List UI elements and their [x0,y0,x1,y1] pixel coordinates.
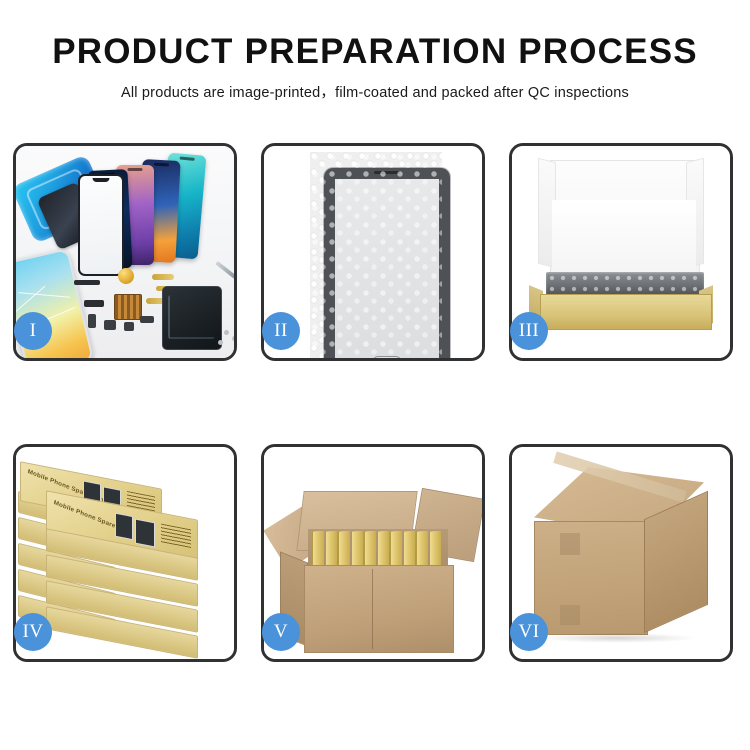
chip-icon [104,320,116,330]
glass-notch-icon [93,178,110,182]
sealed-carton-icon [534,521,648,635]
lid-spec-text [161,524,191,550]
page-title: PRODUCT PREPARATION PROCESS [0,34,750,71]
notch-icon [128,168,143,171]
step-badge-1: I [14,312,52,350]
kraft-inner-box-icon [540,294,712,330]
process-step-panel-6[interactable]: VI [509,444,733,662]
logic-board-icon [162,286,222,350]
flex-cable-icon [152,274,174,280]
chip-icon [140,316,154,323]
step-badge-6: VI [510,613,548,651]
notch-icon [154,163,169,167]
step-badge-3: III [510,312,548,350]
process-step-panel-1[interactable]: I [13,143,237,361]
process-step-panel-3[interactable]: III [509,143,733,361]
carton-seam [372,569,373,649]
step-badge-4: IV [14,613,52,651]
process-step-grid: I II III [13,143,737,662]
notch-icon [180,157,195,161]
screw-icon [232,336,234,341]
phone-artwork-icon [135,519,155,548]
phone-screen-assembly-icon [324,168,450,358]
product-preparation-page: PRODUCT PREPARATION PROCESS All products… [0,0,750,750]
process-step-panel-2[interactable]: II [261,143,485,361]
step-badge-2: II [262,312,300,350]
open-carton-icon [304,565,454,653]
step-badge-5: V [262,613,300,651]
wrapped-screen-icon [546,272,704,296]
speaker-icon [84,300,104,307]
page-header: PRODUCT PREPARATION PROCESS All products… [0,0,750,102]
carton-hand-hole [560,605,580,625]
tweezers-icon [215,261,234,279]
copper-pad-icon [114,294,142,320]
drop-shadow [538,633,698,643]
spare-parts-group [74,264,234,358]
screw-icon [224,330,229,335]
home-button-icon [373,356,401,358]
chip-icon [124,322,134,331]
phone-artwork-icon [115,513,133,540]
front-glass-panel-icon [78,174,124,276]
camera-module-icon [118,268,134,284]
process-step-panel-5[interactable]: V [261,444,485,662]
crack-line [18,292,70,298]
page-subtitle: All products are image-printed，film-coat… [0,81,750,102]
foam-sheet-icon [552,200,696,276]
chip-icon [88,314,96,328]
process-step-panel-4[interactable]: Mobile Phone Spare Parts Mobile Phone Sp… [13,444,237,662]
connector-bar-icon [74,280,100,285]
screw-icon [218,340,223,345]
carton-hand-hole [560,533,580,555]
